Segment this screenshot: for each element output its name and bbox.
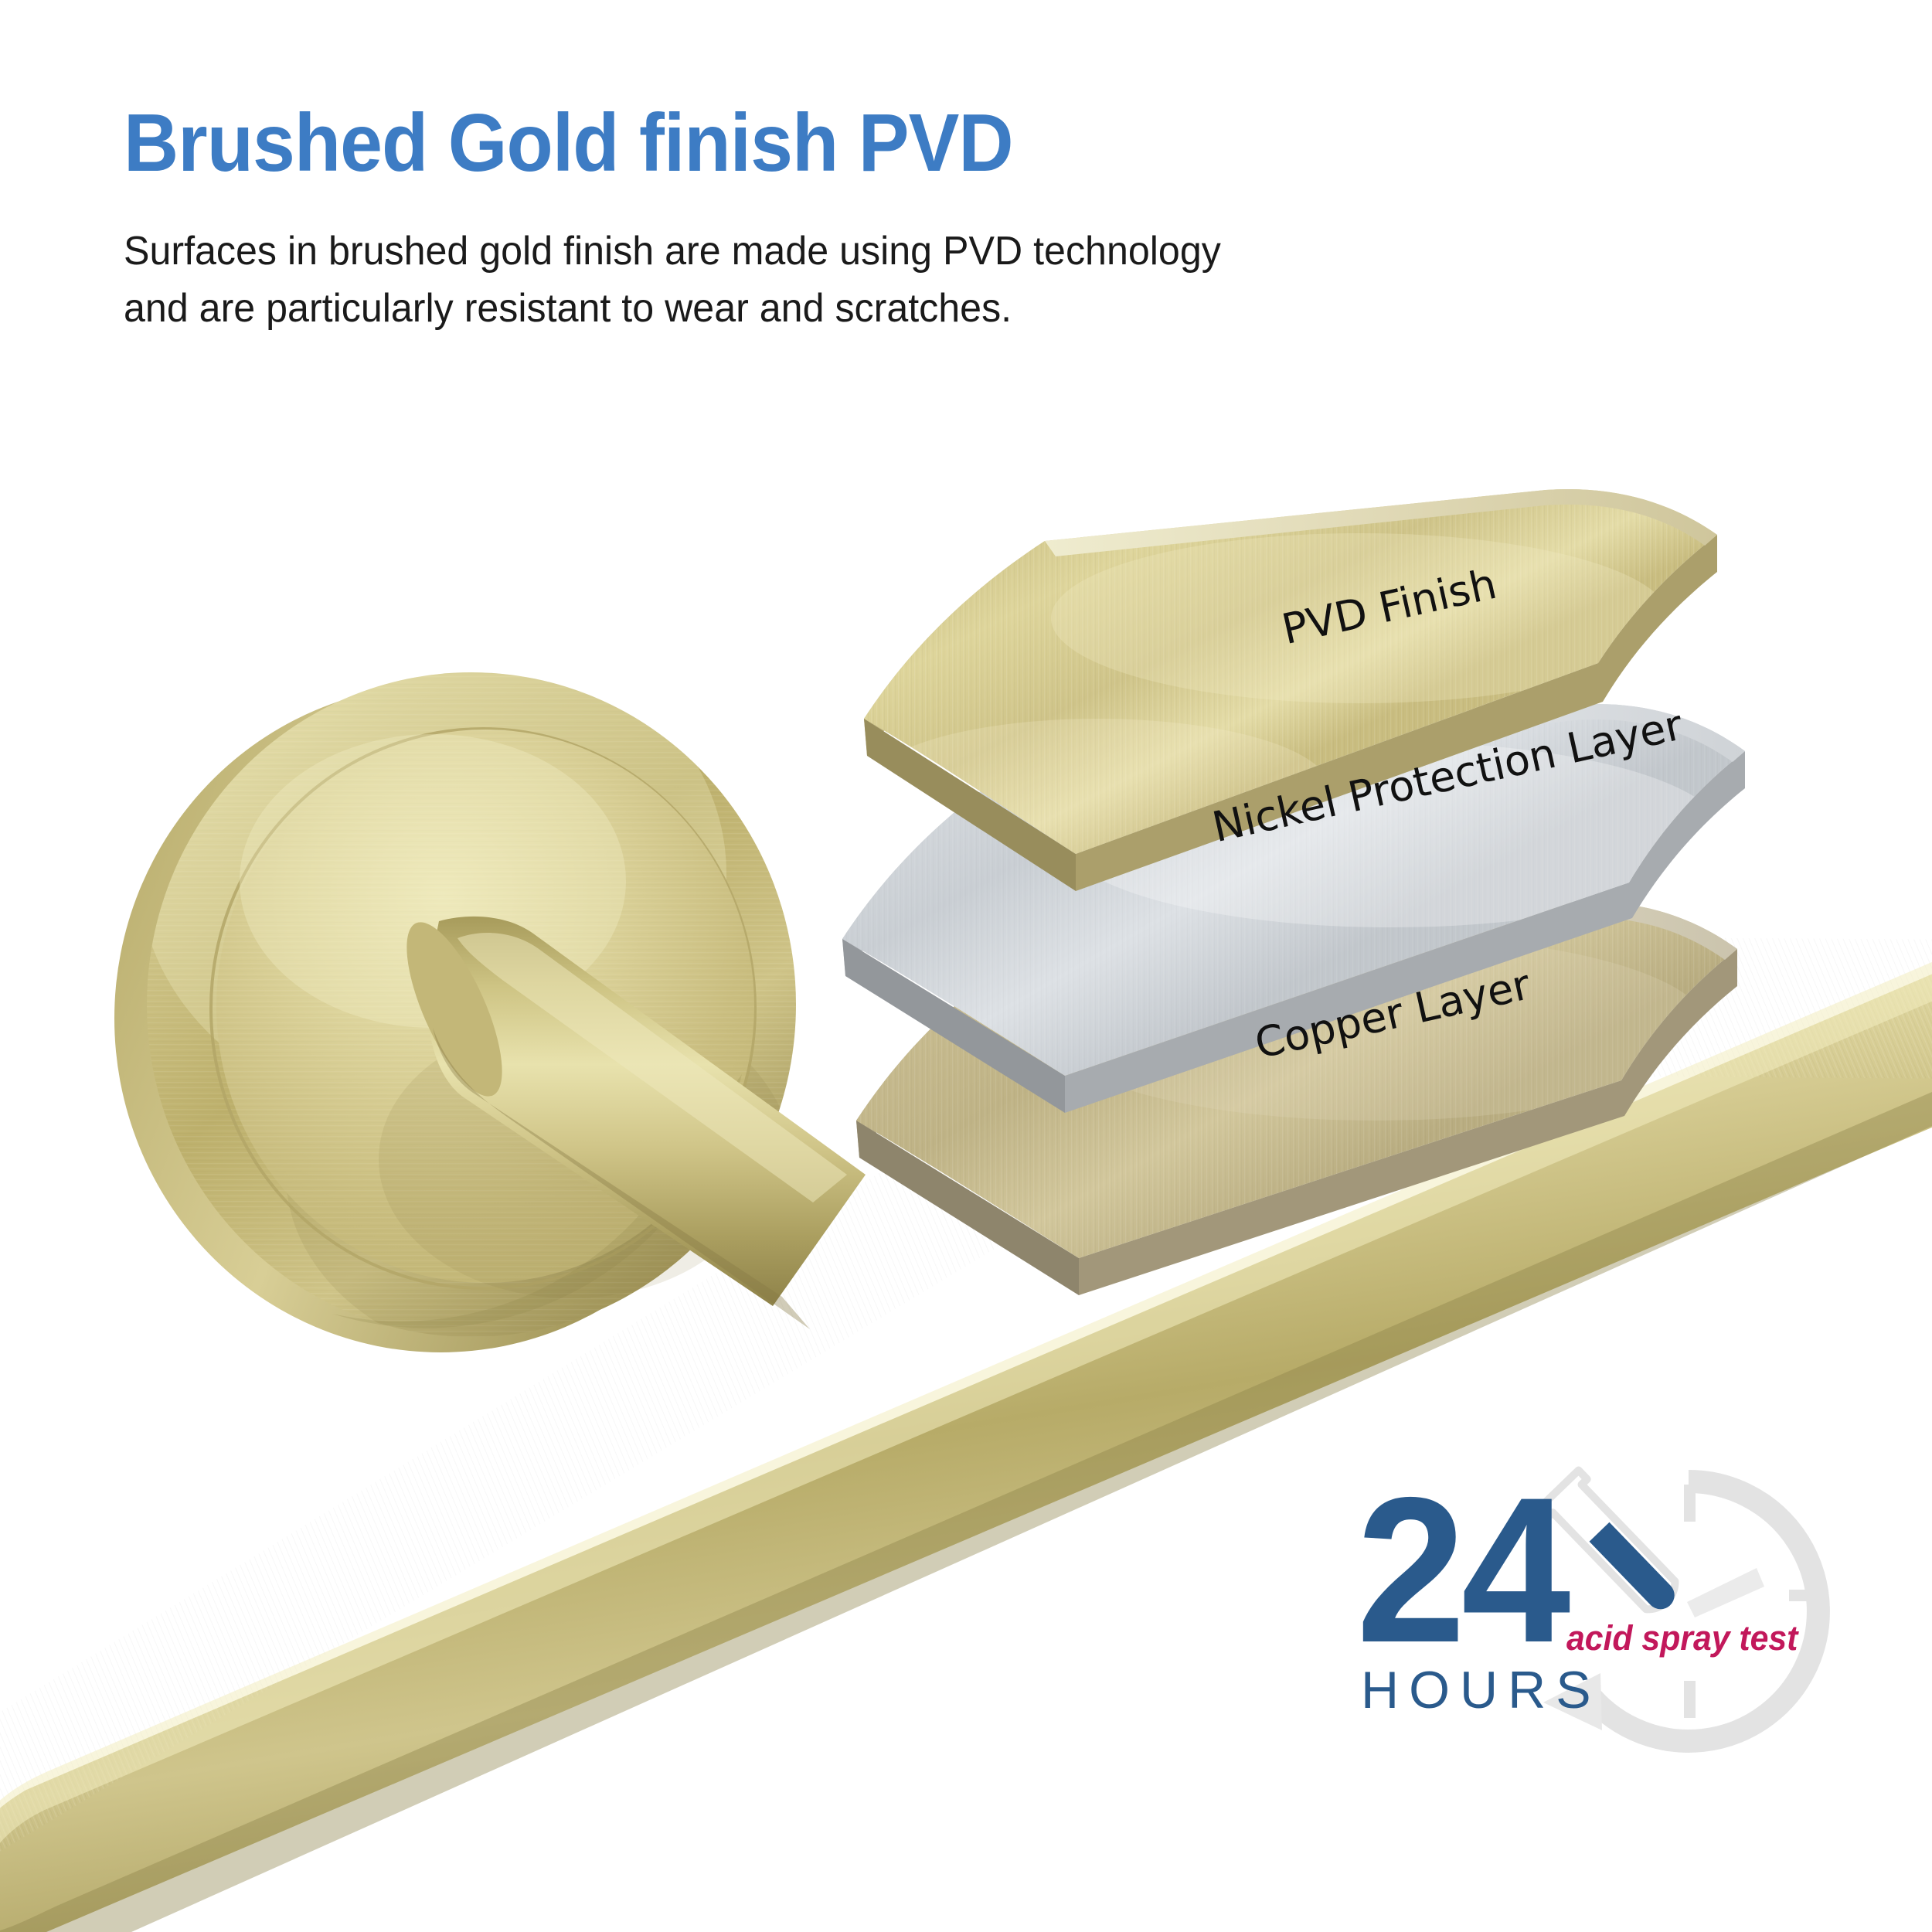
subtitle-line-2: and are particularly resistant to wear a… [124, 281, 1541, 338]
badge-hours-unit: HOURS [1361, 1664, 1601, 1716]
mounting-post [388, 910, 866, 1329]
infographic-canvas: Brushed Gold finish PVD Surfaces in brus… [0, 0, 1932, 1932]
layer-pvd-finish [835, 464, 1762, 912]
page-title: Brushed Gold finish PVD [124, 100, 1489, 186]
badge-hours-number: 24 [1356, 1466, 1566, 1673]
header-block: Brushed Gold finish PVD Surfaces in brus… [124, 100, 1592, 338]
layer-label-nickel-protection: Nickel Protection Layer [1208, 700, 1687, 852]
layer-label-pvd-finish: PVD Finish [1277, 560, 1501, 655]
subtitle-line-1: Surfaces in brushed gold finish are made… [124, 223, 1541, 281]
wall-flange [114, 626, 819, 1368]
layer-copper [811, 866, 1816, 1329]
acid-spray-test-badge: 24 HOURS acid spray test [1356, 1472, 1851, 1797]
layer-label-copper: Copper Layer [1250, 960, 1534, 1068]
badge-test-name: acid spray test [1566, 1621, 1798, 1655]
page-subtitle: Surfaces in brushed gold finish are made… [124, 223, 1541, 338]
